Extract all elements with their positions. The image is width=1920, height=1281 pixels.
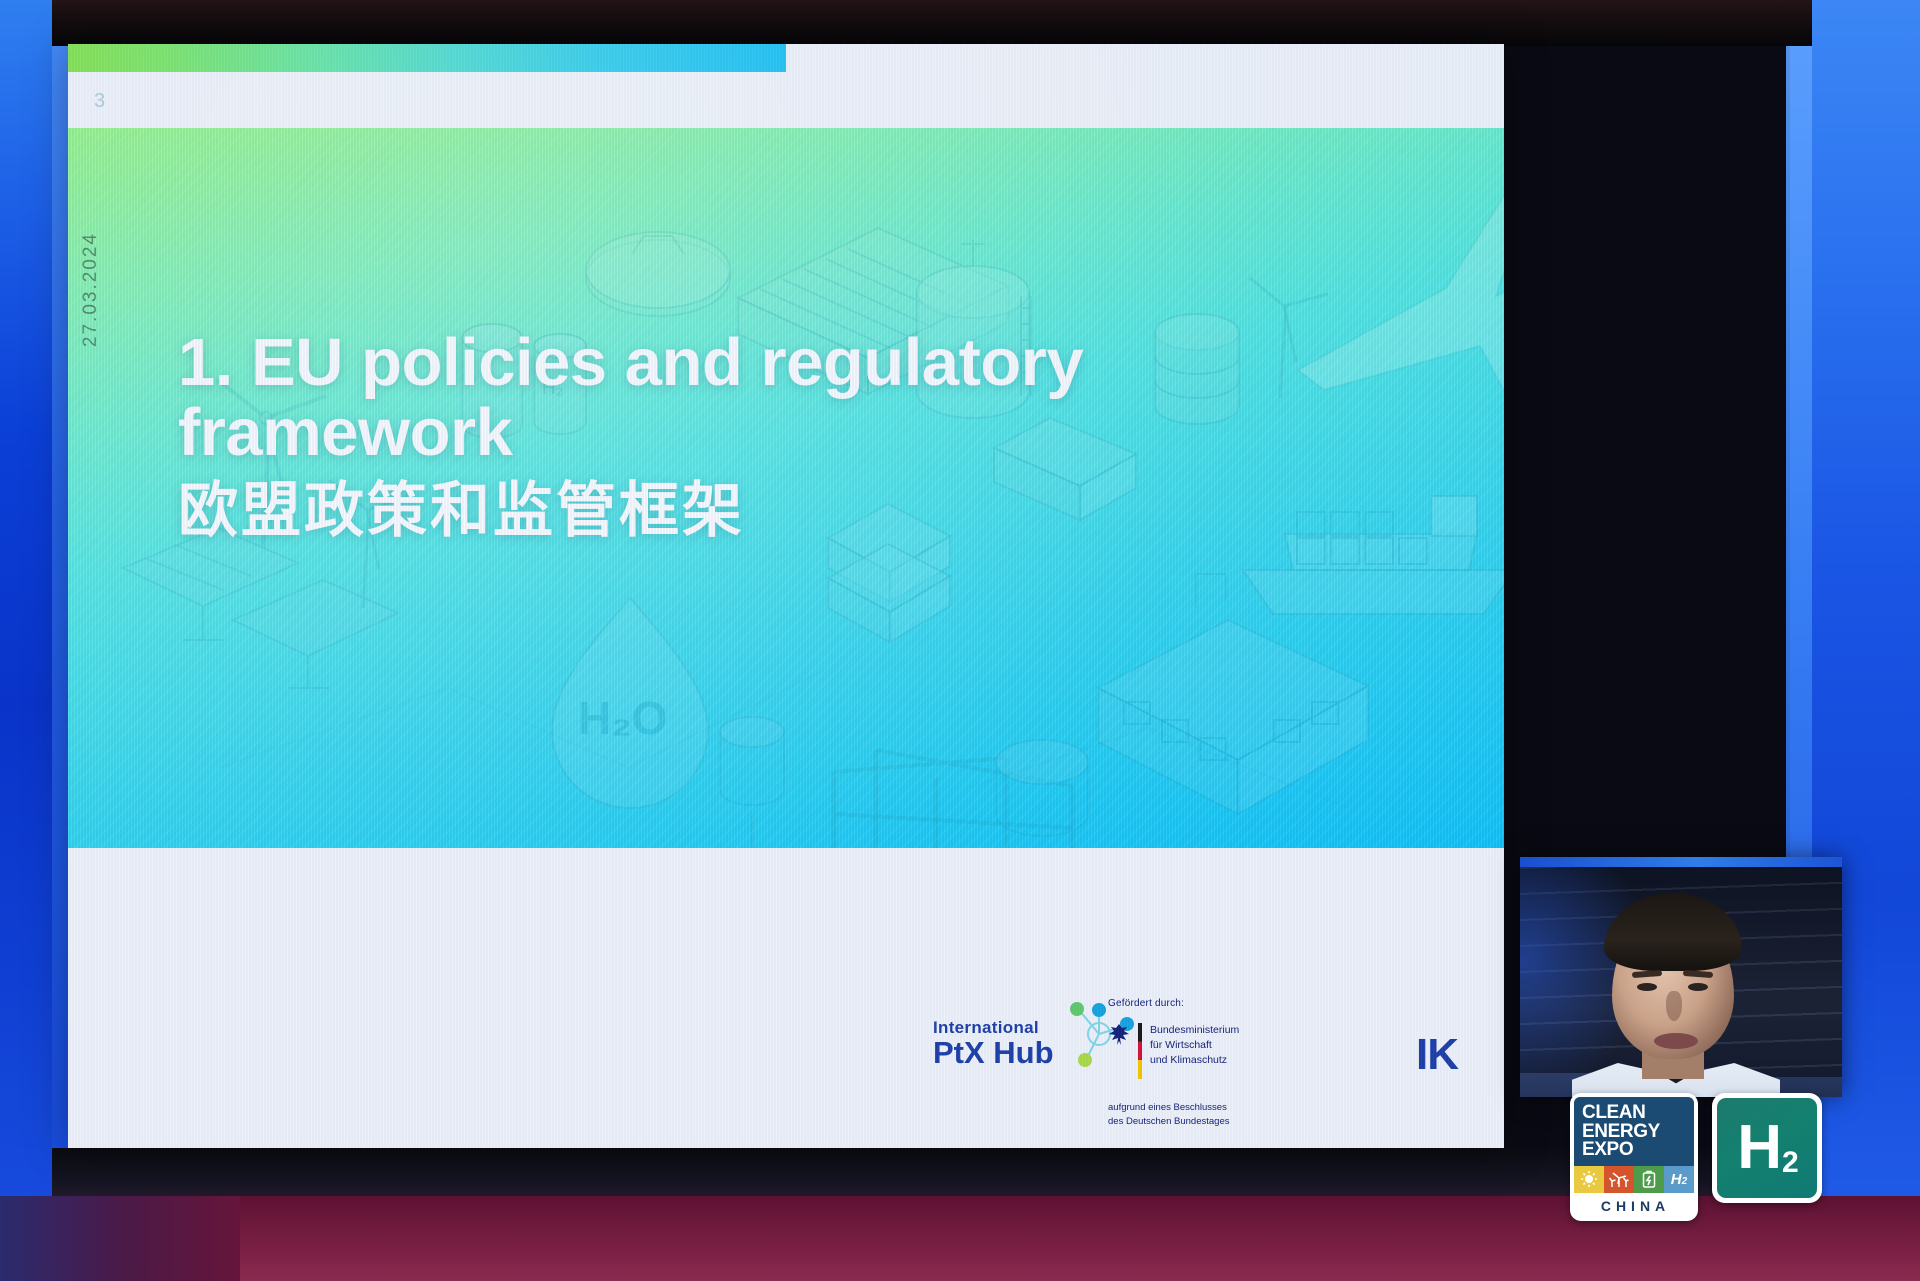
slide-progress-fill	[68, 44, 786, 72]
bmwk-line2: für Wirtschaft	[1150, 1038, 1239, 1053]
pip-background-wall	[1520, 867, 1842, 1097]
battery-icon	[1634, 1166, 1664, 1193]
german-flag-bar	[1138, 1023, 1142, 1079]
ptx-logo-line2: PtX Hub	[933, 1035, 1054, 1071]
cee-line1: CLEAN	[1582, 1104, 1686, 1123]
bmwk-decision-line2: des Deutschen Bundestages	[1108, 1115, 1323, 1129]
remote-speaker-video-pip[interactable]	[1520, 857, 1842, 1097]
ik-partner-logo: IK	[1416, 1030, 1458, 1080]
bmwk-ministry-name: Bundesministerium für Wirtschaft und Kli…	[1150, 1023, 1239, 1068]
slide-header-band	[68, 72, 1504, 128]
slide-progress-track	[68, 44, 1504, 72]
cee-country-label: CHINA	[1574, 1193, 1694, 1217]
event-branding-badges: CLEAN ENERGY EXPO	[1570, 1093, 1822, 1221]
bmwk-funded-by: Gefördert durch:	[1108, 998, 1323, 1009]
slide-title-chinese: 欧盟政策和监管框架	[178, 477, 1378, 544]
conference-room-scene: 3	[0, 0, 1920, 1281]
h2-main-letter: H	[1737, 1117, 1780, 1179]
cee-title-block: CLEAN ENERGY EXPO	[1574, 1097, 1694, 1166]
slide-date: 27.03.2024	[80, 232, 102, 347]
slide-number: 3	[94, 90, 106, 113]
stage-floor-left-shade	[0, 1196, 240, 1281]
cee-icon-strip: H2	[1574, 1166, 1694, 1193]
bmwk-decision-line1: aufgrund eines Beschlusses	[1108, 1101, 1323, 1115]
pip-top-bar	[1520, 857, 1842, 867]
speaker-nose	[1666, 991, 1682, 1021]
bmwk-decision-note: aufgrund eines Beschlusses des Deutschen…	[1108, 1101, 1323, 1129]
footer-logo-row: International PtX Hub Gefördert durch:	[68, 848, 1504, 1148]
slide-title-block: 1. EU policies and regulatory framework …	[178, 328, 1378, 545]
hydrogen-icon: H2	[1664, 1166, 1694, 1193]
h2-logo-badge: H 2	[1712, 1093, 1822, 1203]
stage-backdrop-left-edge	[52, 0, 68, 1281]
svg-text:H₂O: H₂O	[578, 692, 667, 744]
cee-line3: EXPO	[1582, 1141, 1686, 1160]
clean-energy-expo-china-logo: CLEAN ENERGY EXPO	[1570, 1093, 1698, 1221]
slide-title-english: 1. EU policies and regulatory framework	[178, 328, 1378, 467]
bmwk-line1: Bundesministerium	[1150, 1023, 1239, 1038]
projection-screen: 3	[68, 44, 1504, 1148]
international-ptx-hub-logo: International PtX Hub	[933, 1018, 1054, 1071]
bmwk-ministry-logo: Gefördert durch: Bundesministerium für W…	[1108, 998, 1323, 1129]
slide-body: H₂	[68, 128, 1504, 848]
h2-logo-inner: H 2	[1717, 1098, 1817, 1198]
ceiling-dark-band	[52, 0, 1812, 46]
speaker-eye-left	[1637, 983, 1657, 991]
speaker-eye-right	[1688, 983, 1708, 991]
federal-eagle-icon	[1108, 1023, 1130, 1049]
wind-turbine-icon	[1604, 1166, 1634, 1193]
speaker-mouth	[1654, 1033, 1698, 1049]
solar-icon	[1574, 1166, 1604, 1193]
bmwk-line3: und Klimaschutz	[1150, 1053, 1239, 1068]
h2-subscript: 2	[1782, 1146, 1797, 1180]
